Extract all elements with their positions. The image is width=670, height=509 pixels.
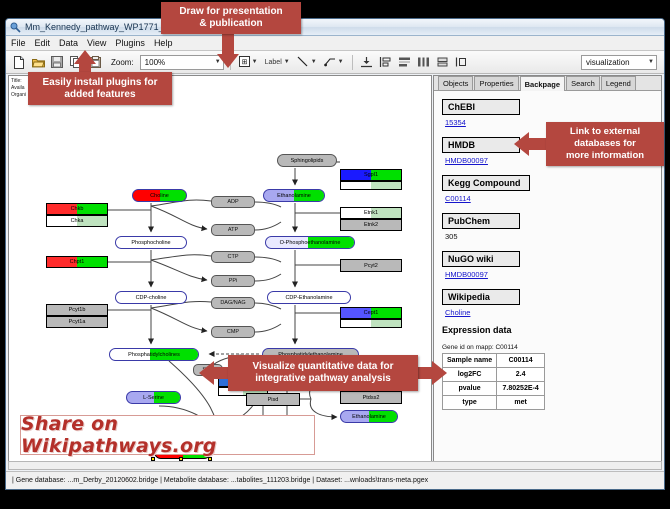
- gene-node-sgpl1[interactable]: Sgpl1: [340, 169, 402, 181]
- gene-node-etnk2[interactable]: Etnk2: [340, 219, 402, 231]
- callout-links-line2: databases for: [574, 138, 636, 150]
- chevron-down-icon: ▼: [311, 59, 317, 65]
- metab-node-sphingolipids[interactable]: Sphingolipids: [277, 154, 337, 167]
- menu-file[interactable]: File: [11, 38, 26, 48]
- callout-links-arrow-icon: [514, 132, 529, 156]
- save-disk-icon[interactable]: [49, 54, 65, 70]
- interaction-icon: [324, 56, 336, 69]
- table-cell-value: 2.4: [497, 368, 545, 382]
- chevron-down-icon: ▼: [645, 59, 654, 65]
- metab-node-cdp-choline[interactable]: CDP-choline: [115, 291, 187, 304]
- metab-node-choline-top[interactable]: Choline: [132, 189, 187, 202]
- callout-links-line1: Link to external: [570, 126, 640, 138]
- table-row: pvalue 7.80252E-4: [443, 382, 545, 396]
- table-cell-key: Sample name: [443, 354, 497, 368]
- node-label: ATP: [228, 227, 238, 233]
- gene-node-sgpl1-row2[interactable]: [340, 181, 402, 190]
- link-nugo-wiki[interactable]: HMDB00097: [445, 270, 661, 279]
- pathway-organism-label: Organi: [11, 92, 26, 99]
- callout-draw-line1: Draw for presentation: [179, 6, 282, 18]
- section-header-nugo-wiki: NuGO wiki: [442, 251, 520, 267]
- node-label: Ptdss2: [363, 395, 380, 401]
- node-label: Pcyt2: [364, 263, 378, 269]
- table-cell-key: log2FC: [443, 368, 497, 382]
- datanode-icon: ⊞: [239, 56, 250, 69]
- screenshot-root: Mm_Kennedy_pathway_WP1771_45176.gpml Fil…: [0, 0, 670, 509]
- chevron-down-icon: ▼: [338, 59, 344, 65]
- node-label: Chka: [71, 218, 84, 224]
- node-label: Chkb: [71, 206, 84, 212]
- line-tool[interactable]: ▼: [295, 54, 319, 70]
- node-label: Etnk1: [364, 210, 378, 216]
- distribute-horizontal-icon[interactable]: [416, 54, 432, 70]
- callout-visualize-arrow-right-icon: [432, 361, 447, 385]
- node-label: CDP-choline: [136, 295, 167, 301]
- menu-edit[interactable]: Edit: [35, 38, 51, 48]
- gene-node-pisd[interactable]: Pisd: [246, 393, 300, 406]
- zoom-combo[interactable]: 100% ▼: [140, 55, 224, 70]
- gene-node-cept1-row2[interactable]: [340, 319, 402, 328]
- node-label: ADP: [227, 199, 238, 205]
- value-fill-up: [371, 320, 401, 327]
- metab-node-ethanolamine-bottom[interactable]: Ethanolamine: [340, 410, 398, 423]
- metab-node-ppi[interactable]: PPi: [211, 275, 255, 287]
- callout-links: Link to external databases for more info…: [546, 122, 664, 166]
- callout-visualize-arrow-left-icon: [199, 361, 214, 385]
- callout-draw-line2: & publication: [199, 18, 262, 30]
- node-label: Sgpl1: [364, 172, 378, 178]
- expression-table: Sample name C00114 log2FC 2.4 pvalue 7.8…: [442, 353, 545, 410]
- table-row: Sample name C00114: [443, 354, 545, 368]
- label-tool-label: Label: [265, 59, 282, 66]
- node-label: Phosphatidylcholines: [128, 352, 180, 358]
- visualization-value: visualization: [586, 58, 630, 67]
- table-row: type met: [443, 396, 545, 410]
- gene-node-pcyt2[interactable]: Pcyt2: [340, 259, 402, 272]
- menubar[interactable]: File Edit Data View Plugins Help: [6, 36, 664, 51]
- callout-draw: Draw for presentation & publication: [161, 2, 301, 34]
- node-label: Pcyt1b: [69, 307, 86, 313]
- metab-node-atp[interactable]: ATP: [211, 224, 255, 236]
- node-label: O-Phosphoethanolamine: [280, 240, 341, 246]
- selection-handle[interactable]: [208, 457, 212, 461]
- gene-node-pcyt1a[interactable]: Pcyt1a: [46, 316, 108, 328]
- section-header-kegg-compound: Kegg Compound: [442, 175, 530, 191]
- gene-node-ptdss2[interactable]: Ptdss2: [340, 391, 402, 404]
- metab-node-phosphatidylcholines[interactable]: Phosphatidylcholines: [109, 348, 199, 361]
- gene-node-chkb[interactable]: Chkb: [46, 203, 108, 215]
- node-label: CTP: [228, 254, 239, 260]
- node-label: CDP-Ethanolamine: [285, 295, 332, 301]
- tab-properties[interactable]: Properties: [474, 76, 518, 90]
- menu-data[interactable]: Data: [59, 38, 78, 48]
- horizontal-scrollbar[interactable]: [8, 461, 662, 470]
- label-tool[interactable]: Label ▼: [263, 54, 292, 70]
- selection-handle[interactable]: [179, 457, 183, 461]
- common-height-icon[interactable]: [454, 54, 470, 70]
- metab-node-o-phosphoethanolamine[interactable]: O-Phosphoethanolamine: [265, 236, 355, 249]
- callout-plugins-line1: Easily install plugins for: [42, 77, 157, 89]
- pathvisio-app-icon: [10, 22, 21, 33]
- callout-visualize-stem-right: [416, 367, 432, 379]
- table-cell-key: pvalue: [443, 382, 497, 396]
- value-fill-neutral: [341, 182, 371, 189]
- expression-data-heading: Expression data: [442, 325, 661, 335]
- metab-node-phosphocholine[interactable]: Phosphocholine: [115, 236, 187, 249]
- svg-text:⊞: ⊞: [241, 59, 247, 66]
- main-toolbar: Zoom: 100% ▼ ⊞ ▼ Label ▼ ▼: [6, 51, 664, 74]
- node-label: PPi: [229, 278, 238, 284]
- callout-plugins-line2: added features: [64, 89, 135, 101]
- callout-visualize-line2: integrative pathway analysis: [255, 373, 391, 385]
- menu-plugins[interactable]: Plugins: [115, 38, 145, 48]
- callout-plugins: Easily install plugins for added feature…: [28, 72, 172, 105]
- window-titlebar: Mm_Kennedy_pathway_WP1771_45176.gpml: [6, 19, 664, 36]
- selection-handle[interactable]: [151, 457, 155, 461]
- node-label: DAG/NAG: [220, 300, 245, 306]
- align-left-icon[interactable]: [378, 54, 394, 70]
- table-cell-value: C00114: [497, 354, 545, 368]
- value-pubchem: 305: [445, 232, 661, 241]
- interaction-tool[interactable]: ▼: [322, 54, 346, 70]
- gene-node-cept1[interactable]: Cept1: [340, 307, 402, 319]
- zoom-value: 100%: [145, 58, 165, 67]
- zoom-label: Zoom:: [111, 58, 134, 67]
- node-label: Etnk2: [364, 222, 378, 228]
- tab-objects[interactable]: Objects: [438, 76, 473, 90]
- link-kegg-compound[interactable]: C00114: [445, 194, 661, 203]
- node-label: Ethanolamine: [352, 414, 386, 420]
- table-cell-value: met: [497, 396, 545, 410]
- share-banner-text: Share on Wikipathways.org: [21, 413, 314, 457]
- tab-legend[interactable]: Legend: [601, 76, 636, 90]
- node-label: Pisd: [268, 397, 279, 403]
- statusbar: | Gene database: ...m_Derby_20120602.bri…: [6, 471, 664, 489]
- metab-node-l-serine-left[interactable]: L-Serine: [126, 391, 181, 404]
- metab-node-cdp-ethanolamine[interactable]: CDP-Ethanolamine: [267, 291, 351, 304]
- callout-plugins-arrow-icon: [74, 50, 96, 64]
- callout-visualize: Visualize quantitative data for integrat…: [228, 355, 418, 391]
- pathway-title-label: Title:: [11, 78, 26, 85]
- metab-node-cmp[interactable]: CMP: [211, 326, 255, 338]
- callout-links-line3: more information: [566, 150, 644, 162]
- tab-backpage[interactable]: Backpage: [520, 76, 565, 91]
- common-width-icon[interactable]: [435, 54, 451, 70]
- gene-id-line: Gene id on mapp: C00114: [442, 344, 661, 351]
- open-folder-icon[interactable]: [30, 54, 46, 70]
- callout-draw-stem: [222, 34, 234, 56]
- side-panel-tabs: Objects Properties Backpage Search Legen…: [434, 76, 661, 91]
- table-cell-value: 7.80252E-4: [497, 382, 545, 396]
- node-label: Cept1: [364, 310, 379, 316]
- pathway-canvas[interactable]: Title: Availa Organi: [8, 75, 432, 469]
- pathway-available-label: Availa: [11, 85, 26, 92]
- table-row: log2FC 2.4: [443, 368, 545, 382]
- pathway-info: Title: Availa Organi: [11, 78, 26, 99]
- value-fill-up: [371, 182, 401, 189]
- datanode-tool[interactable]: ⊞ ▼: [237, 54, 260, 70]
- line-icon: [297, 56, 309, 69]
- node-label: CMP: [227, 329, 239, 335]
- callout-visualize-line1: Visualize quantitative data for: [253, 361, 394, 373]
- gene-node-etnk1[interactable]: Etnk1: [340, 207, 402, 219]
- chevron-down-icon: ▼: [284, 59, 290, 65]
- stack-vertical-icon[interactable]: [397, 54, 413, 70]
- toolbar-separator: [352, 55, 353, 70]
- statusbar-text: | Gene database: ...m_Derby_20120602.bri…: [12, 477, 428, 484]
- node-label: Phosphocholine: [131, 240, 170, 246]
- table-cell-key: type: [443, 396, 497, 410]
- tab-search[interactable]: Search: [566, 76, 600, 90]
- section-header-wikipedia: Wikipedia: [442, 289, 520, 305]
- gene-node-chpt1[interactable]: Chpt1: [46, 256, 108, 268]
- gene-node-pcyt1b[interactable]: Pcyt1b: [46, 304, 108, 316]
- metab-node-dagnag[interactable]: DAG/NAG: [211, 297, 255, 309]
- new-document-icon[interactable]: [11, 54, 27, 70]
- align-bottom-icon[interactable]: [359, 54, 375, 70]
- node-label: L-Serine: [143, 395, 164, 401]
- section-header-hmdb: HMDB: [442, 137, 520, 153]
- menu-help[interactable]: Help: [154, 38, 173, 48]
- metab-node-ethanolamine-top[interactable]: Ethanolamine: [263, 189, 325, 202]
- node-label: Chpt1: [70, 259, 85, 265]
- visualization-combo[interactable]: visualization ▼: [581, 55, 657, 70]
- link-wikipedia[interactable]: Choline: [445, 308, 661, 317]
- menu-view[interactable]: View: [87, 38, 106, 48]
- node-label: Sphingolipids: [291, 158, 324, 164]
- metab-node-ctp[interactable]: CTP: [211, 251, 255, 263]
- share-banner: Share on Wikipathways.org: [20, 415, 315, 455]
- metab-node-adp[interactable]: ADP: [211, 196, 255, 208]
- node-label: Pcyt1a: [69, 319, 86, 325]
- node-label: Ethanolamine: [277, 193, 311, 199]
- section-header-chebi: ChEBI: [442, 99, 520, 115]
- gene-node-chka[interactable]: Chka: [46, 215, 108, 227]
- callout-draw-arrow-icon: [217, 54, 239, 68]
- value-fill-neutral: [341, 320, 371, 327]
- node-label: Choline: [150, 193, 169, 199]
- section-header-pubchem: PubChem: [442, 213, 520, 229]
- chevron-down-icon: ▼: [252, 59, 258, 65]
